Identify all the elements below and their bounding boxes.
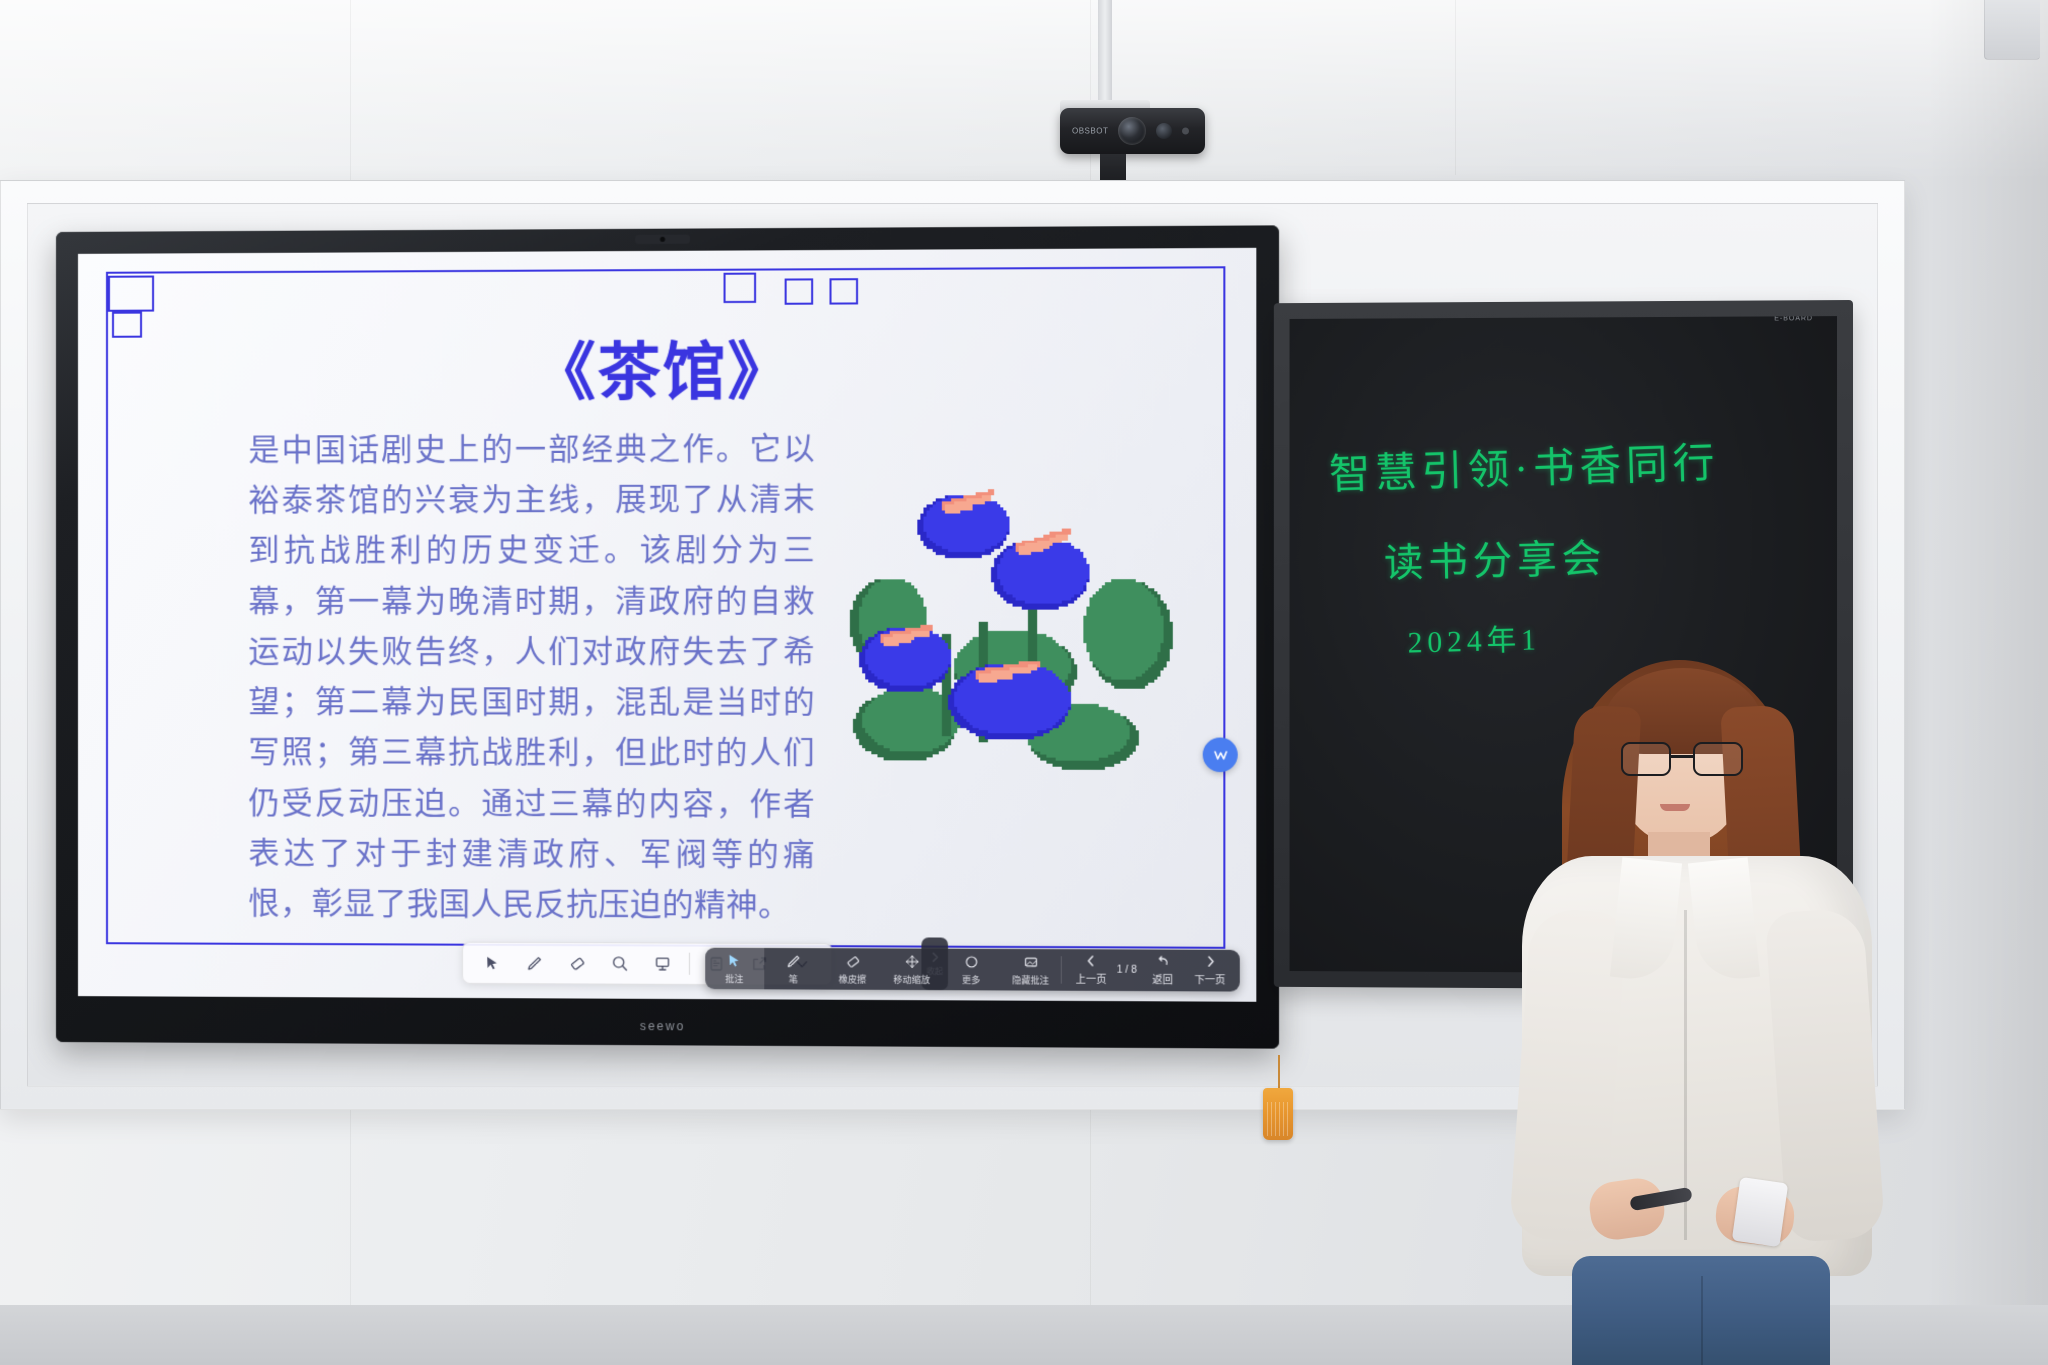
presenter xyxy=(1480,660,1920,1365)
eraser-icon xyxy=(568,954,586,972)
presentation-tool-button[interactable] xyxy=(641,943,684,984)
page-indicator: 1 / 8 xyxy=(1117,965,1137,976)
wall-light-gradient xyxy=(0,0,2048,180)
slide-corner-mark xyxy=(829,278,858,304)
wall-seam xyxy=(1455,0,1456,175)
chalk-line-title: 智慧引领·书香同行 xyxy=(1328,429,1720,502)
select-tool-button[interactable] xyxy=(471,943,513,983)
slide-illustration xyxy=(838,446,1176,822)
chevron-left-icon xyxy=(1084,954,1097,967)
circle-icon xyxy=(963,954,979,970)
magnifier-icon xyxy=(611,954,629,972)
eraser-tool-button[interactable]: 橡皮擦 xyxy=(823,948,882,990)
slide-body-text: 是中国话剧史上的一部经典之作。它以裕泰茶馆的兴衰为主线，展现了从清末到抗战胜利的… xyxy=(248,424,815,931)
slide-corner-mark xyxy=(785,278,814,304)
presentation-slide[interactable]: 《茶馆》 是中国话剧史上的一部经典之作。它以裕泰茶馆的兴衰为主线，展现了从清末到… xyxy=(78,248,1256,1002)
cursor-icon xyxy=(726,953,742,969)
glasses-lens-right xyxy=(1693,742,1743,776)
zoom-tool-button[interactable] xyxy=(599,943,642,983)
screen-icon xyxy=(653,955,671,973)
pen-icon xyxy=(526,954,544,972)
slide-corner-mark xyxy=(108,276,154,312)
pixel-flower-canvas xyxy=(838,446,1176,822)
whiteboard-camera-icon xyxy=(635,235,690,244)
glasses-bridge xyxy=(1671,755,1693,758)
slide-title: 《茶馆》 xyxy=(78,319,1256,414)
hide-annotations-button[interactable]: 隐藏批注 xyxy=(1001,949,1060,991)
blackboard-brand-label: E-BOARD xyxy=(1774,316,1813,322)
pen-icon xyxy=(785,953,801,969)
hide-annotations-label: 隐藏批注 xyxy=(1012,973,1049,986)
glasses-lens-left xyxy=(1621,742,1671,776)
camera-lens-icon xyxy=(1118,117,1146,145)
return-icon xyxy=(1156,955,1169,968)
camera-brand-label: OBSBOT xyxy=(1072,127,1108,136)
jeans xyxy=(1572,1256,1830,1365)
pan-zoom-tool-label: 移动缩放 xyxy=(893,973,930,986)
prev-page-button[interactable]: 上一页 xyxy=(1070,954,1113,986)
toolbar-divider xyxy=(689,953,690,975)
classroom-scene: OBSBOT 注意 高温警告 注意 高温警告 智能笔 xyxy=(0,0,2048,1365)
chalk-line-subtitle: 读书分享会 xyxy=(1383,526,1606,589)
ceiling-camera: OBSBOT xyxy=(1060,108,1205,154)
slide-corner-mark xyxy=(724,273,757,303)
ai-assistant-icon xyxy=(1211,746,1229,763)
eraser-tool-label: 橡皮擦 xyxy=(839,972,867,985)
chevron-right-icon xyxy=(1203,955,1216,968)
next-page-button[interactable]: 下一页 xyxy=(1188,955,1231,987)
move-icon xyxy=(904,954,920,970)
wall-corner-shading xyxy=(1928,0,2048,1365)
whiteboard-brand-label: seewo xyxy=(640,1019,685,1033)
whiteboard-screen[interactable]: 《茶馆》 是中国话剧史上的一部经典之作。它以裕泰茶馆的兴衰为主线，展现了从清末到… xyxy=(78,248,1256,1002)
slide-pager[interactable]: 上一页 1 / 8 返回 下一页 xyxy=(1061,949,1239,991)
mouth xyxy=(1660,804,1690,811)
next-page-label: 下一页 xyxy=(1194,971,1225,986)
pen-tool-label: 笔 xyxy=(789,972,798,985)
more-tool-button[interactable]: 更多 xyxy=(941,949,1000,991)
eraser-icon xyxy=(844,953,860,969)
pen-tool-button[interactable]: 笔 xyxy=(764,948,823,990)
pen-tool-button[interactable] xyxy=(514,943,557,983)
pan-zoom-tool-button[interactable]: 移动缩放 xyxy=(882,948,941,990)
chalk-line-date: 2024年1 xyxy=(1407,615,1541,662)
camera-indicator-icon xyxy=(1182,128,1189,135)
cursor-icon xyxy=(484,954,501,971)
eraser-tool-button[interactable] xyxy=(556,943,599,983)
annotate-tool-label: 批注 xyxy=(725,972,743,985)
camera-mount-pole xyxy=(1098,0,1112,104)
ai-assistant-button[interactable] xyxy=(1203,738,1238,773)
prev-page-label: 上一页 xyxy=(1076,971,1107,986)
annotation-toolbar[interactable]: 批注 笔 橡皮擦 移动缩放 xyxy=(705,948,1240,992)
return-label: 返回 xyxy=(1152,971,1173,986)
decorative-tassel xyxy=(1263,1088,1293,1140)
remote-clicker xyxy=(1732,1177,1788,1247)
camera-secondary-lens-icon xyxy=(1156,123,1172,139)
glasses-icon xyxy=(1621,742,1743,776)
return-button[interactable]: 返回 xyxy=(1141,955,1184,987)
more-tool-label: 更多 xyxy=(962,973,980,986)
hide-icon xyxy=(1022,954,1038,970)
interactive-whiteboard[interactable]: seewo 《茶馆》 是中国话剧史上的一部经典之作。它以裕泰茶馆的兴衰为主线，展… xyxy=(56,225,1279,1048)
annotate-tool-button[interactable]: 批注 xyxy=(705,948,764,990)
wall-utility-box xyxy=(1984,0,2040,60)
